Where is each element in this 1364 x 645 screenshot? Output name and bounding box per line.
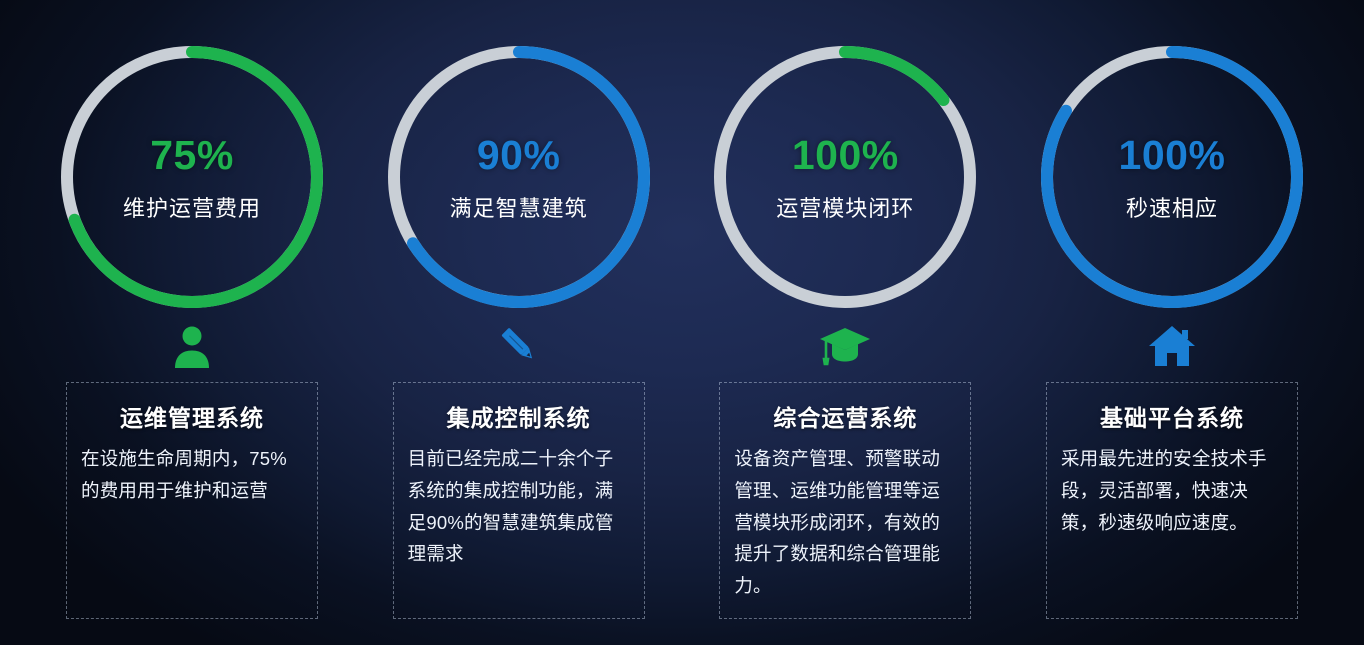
donut-center-1: 75% 维护运营费用 xyxy=(92,135,292,220)
slide-stage: 75% 维护运营费用 运维管理系统 在设施生命周期内，75%的费用用于维护和运营 xyxy=(0,0,1364,645)
donut-percent-2: 90% xyxy=(419,135,619,176)
donut-chart-2: 90% 满足智慧建筑 xyxy=(388,46,650,308)
donut-center-3: 100% 运营模块闭环 xyxy=(745,135,945,220)
donut-center-2: 90% 满足智慧建筑 xyxy=(419,135,619,220)
info-box-1[interactable]: 运维管理系统 在设施生命周期内，75%的费用用于维护和运营 xyxy=(66,382,318,619)
info-title-3: 综合运营系统 xyxy=(734,399,956,433)
donut-percent-1: 75% xyxy=(92,135,292,176)
info-body-1: 在设施生命周期内，75%的费用用于维护和运营 xyxy=(81,443,303,507)
info-title-4: 基础平台系统 xyxy=(1061,399,1283,433)
graduation-cap-icon xyxy=(818,323,872,369)
donut-label-2: 满足智慧建筑 xyxy=(419,198,619,220)
info-box-4[interactable]: 基础平台系统 采用最先进的安全技术手段，灵活部署，快速决策，秒速级响应速度。 xyxy=(1046,382,1298,619)
info-title-2: 集成控制系统 xyxy=(408,399,630,433)
info-title-1: 运维管理系统 xyxy=(81,399,303,433)
donut-chart-4: 100% 秒速相应 xyxy=(1041,46,1303,308)
info-body-2: 目前已经完成二十余个子系统的集成控制功能，满足90%的智慧建筑集成管理需求 xyxy=(408,443,630,570)
metric-card-platform[interactable]: 100% 秒速相应 基础平台系统 采用最先进的安全技术手段，灵活部署，快速决策，… xyxy=(1022,0,1322,619)
donut-label-1: 维护运营费用 xyxy=(92,198,292,220)
icon-slot-4 xyxy=(1147,314,1197,378)
icon-slot-3 xyxy=(818,314,872,378)
info-box-2[interactable]: 集成控制系统 目前已经完成二十余个子系统的集成控制功能，满足90%的智慧建筑集成… xyxy=(393,382,645,619)
donut-label-4: 秒速相应 xyxy=(1072,198,1272,220)
info-body-4: 采用最先进的安全技术手段，灵活部署，快速决策，秒速级响应速度。 xyxy=(1061,443,1283,538)
donut-percent-4: 100% xyxy=(1072,135,1272,176)
info-body-3: 设备资产管理、预警联动管理、运维功能管理等运营模块形成闭环，有效的提升了数据和综… xyxy=(734,443,956,602)
icon-slot-2 xyxy=(495,314,543,378)
donut-chart-1: 75% 维护运营费用 xyxy=(61,46,323,308)
metric-card-integrated-operations[interactable]: 100% 运营模块闭环 综合运营系统 设备资产管理、预警联动管理、运维功能管理等… xyxy=(695,0,995,619)
pencil-icon xyxy=(495,322,543,370)
user-icon xyxy=(168,322,216,370)
donut-label-3: 运营模块闭环 xyxy=(745,198,945,220)
donut-percent-3: 100% xyxy=(745,135,945,176)
metric-card-integrated-control[interactable]: 90% 满足智慧建筑 集成控制系统 目前已经完成二十余个子系 xyxy=(369,0,669,619)
donut-progress-arc-3 xyxy=(845,52,944,100)
icon-slot-1 xyxy=(168,314,216,378)
info-box-3[interactable]: 综合运营系统 设备资产管理、预警联动管理、运维功能管理等运营模块形成闭环，有效的… xyxy=(719,382,971,619)
donut-center-4: 100% 秒速相应 xyxy=(1072,135,1272,220)
metric-card-row: 75% 维护运营费用 运维管理系统 在设施生命周期内，75%的费用用于维护和运营 xyxy=(0,0,1364,645)
home-icon xyxy=(1147,323,1197,369)
metric-card-ops-maintenance[interactable]: 75% 维护运营费用 运维管理系统 在设施生命周期内，75%的费用用于维护和运营 xyxy=(42,0,342,619)
donut-chart-3: 100% 运营模块闭环 xyxy=(714,46,976,308)
